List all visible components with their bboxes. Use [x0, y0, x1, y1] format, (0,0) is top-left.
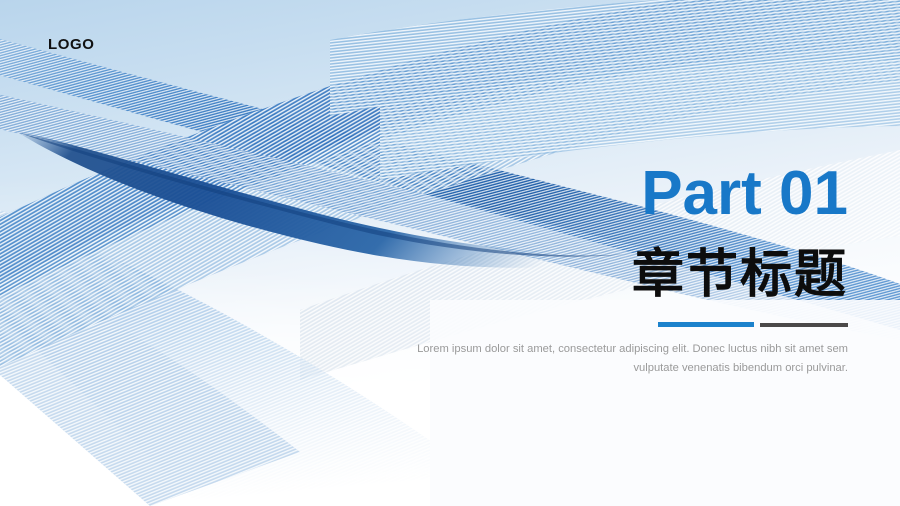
- title-block: Part 01 章节标题 Lorem ipsum dolor sit amet,…: [378, 162, 848, 377]
- title-divider: [378, 322, 848, 327]
- slide-canvas: LOGO Part 01 章节标题 Lorem ipsum dolor sit …: [0, 0, 900, 506]
- logo-text[interactable]: LOGO: [48, 36, 95, 53]
- divider-segment-gray: [760, 323, 848, 327]
- divider-segment-blue: [658, 322, 754, 327]
- part-number-heading: Part 01: [378, 162, 848, 225]
- wave-band-top-right: [330, 0, 900, 180]
- body-paragraph: Lorem ipsum dolor sit amet, consectetur …: [378, 340, 848, 376]
- section-title-heading: 章节标题: [378, 247, 848, 303]
